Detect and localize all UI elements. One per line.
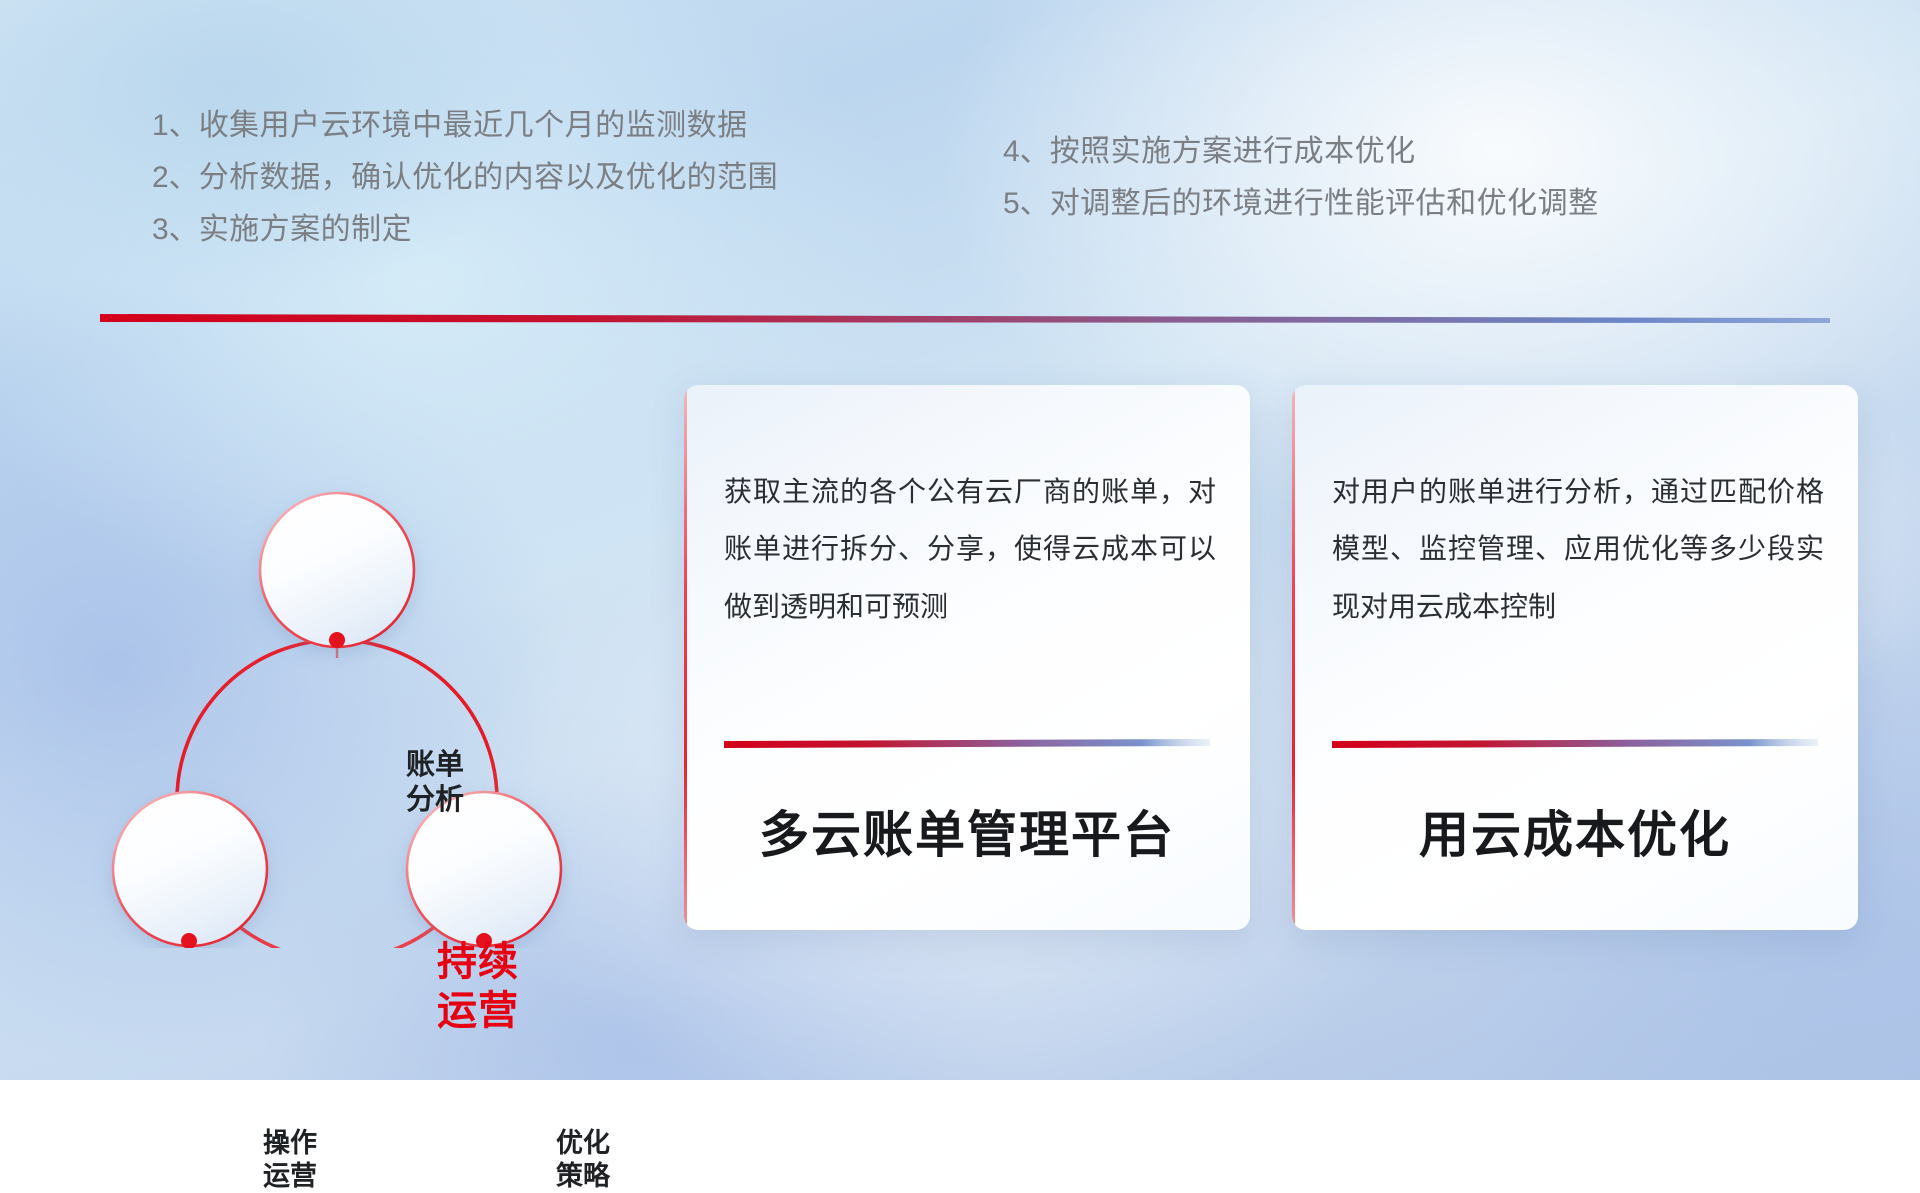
card-body-text: 获取主流的各个公有云厂商的账单，对账单进行拆分、分享，使得云成本可以做到透明和可… [724,463,1216,635]
junction-dot-top [329,632,345,648]
bubble-billing-analysis [260,493,414,647]
bubble-label-billing-analysis: 账单 分析 [365,748,505,819]
step-number: 2、 [152,161,199,194]
card-divider [724,739,1210,748]
step-item-4: 4、按照实施方案进行成本优化 [1003,126,1416,170]
bubble-label-operations: 操作 运营 [220,1127,360,1193]
steps-list: 1、收集用户云环境中最近几个月的监测数据 2、分析数据，确认优化的内容以及优化的… [0,0,1920,250]
step-text: 分析数据，确认优化的内容以及优化的范围 [199,161,779,194]
step-text: 收集用户云环境中最近几个月的监测数据 [199,109,748,142]
diagram-center-label: 持续 运营 [388,938,568,1036]
card-title: 多云账单管理平台 [684,795,1250,867]
bubble-label-optimization-strategy: 优化 策略 [513,1127,653,1193]
card-body-text: 对用户的账单进行分析，通过匹配价格模型、监控管理、应用优化等多少段实现对用云成本… [1332,463,1824,635]
step-item-2: 2、分析数据，确认优化的内容以及优化的范围 [152,152,778,196]
section-divider-rule [100,314,1830,323]
step-item-5: 5、对调整后的环境进行性能评估和优化调整 [1003,178,1599,222]
step-number: 5、 [1003,187,1050,220]
step-text: 实施方案的制定 [199,213,413,246]
step-item-1: 1、收集用户云环境中最近几个月的监测数据 [152,100,748,144]
card-multicloud-billing-platform[interactable]: 获取主流的各个公有云厂商的账单，对账单进行拆分、分享，使得云成本可以做到透明和可… [684,385,1250,930]
step-item-3: 3、实施方案的制定 [152,204,412,248]
card-cloud-cost-optimization[interactable]: 对用户的账单进行分析，通过匹配价格模型、监控管理、应用优化等多少段实现对用云成本… [1292,385,1858,930]
continuous-operation-diagram: 账单 分析 操作 运营 优化 策略 持续 运营 [88,348,588,948]
card-divider [1332,739,1818,748]
bubble-operations [113,792,267,946]
step-number: 4、 [1003,135,1050,168]
step-text: 按照实施方案进行成本优化 [1050,135,1416,168]
step-number: 3、 [152,213,199,246]
step-text: 对调整后的环境进行性能评估和优化调整 [1050,187,1599,220]
card-title: 用云成本优化 [1292,795,1858,867]
step-number: 1、 [152,109,199,142]
